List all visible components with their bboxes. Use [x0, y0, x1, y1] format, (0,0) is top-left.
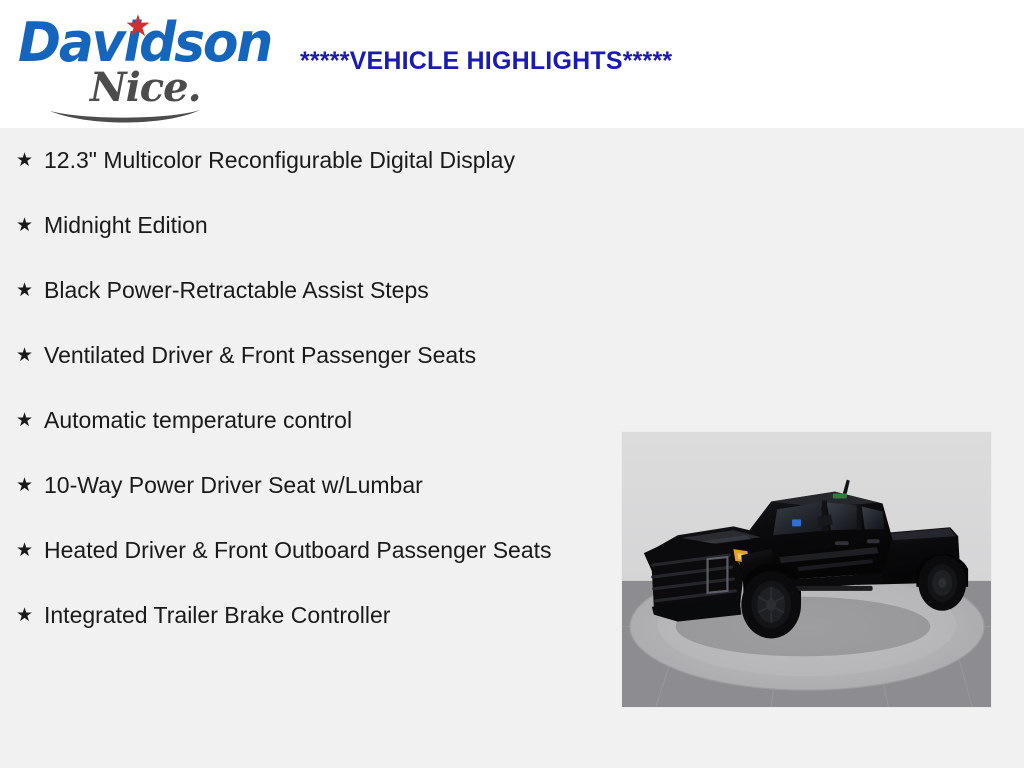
star-bullet-icon: ★	[16, 469, 44, 501]
star-bullet-icon: ★	[16, 274, 44, 306]
highlight-text: Heated Driver & Front Outboard Passenger…	[44, 534, 564, 567]
highlight-text: Integrated Trailer Brake Controller	[44, 599, 564, 632]
vehicle-highlights-list: ★ 12.3" Multicolor Reconfigurable Digita…	[0, 144, 600, 664]
list-item: ★ Ventilated Driver & Front Passenger Se…	[0, 339, 600, 372]
highlight-text: Automatic temperature control	[44, 404, 564, 437]
star-bullet-icon: ★	[16, 144, 44, 176]
highlight-text: Ventilated Driver & Front Passenger Seat…	[44, 339, 564, 372]
highlight-text: Black Power-Retractable Assist Steps	[44, 274, 564, 307]
highlights-section: ★ 12.3" Multicolor Reconfigurable Digita…	[0, 128, 1024, 768]
list-item: ★ Midnight Edition	[0, 209, 600, 242]
dealer-logo[interactable]: Davidson ★ Nice.	[12, 6, 274, 122]
star-bullet-icon: ★	[16, 599, 44, 631]
list-item: ★ 12.3" Multicolor Reconfigurable Digita…	[0, 144, 600, 177]
list-item: ★ Automatic temperature control	[0, 404, 600, 437]
star-bullet-icon: ★	[16, 404, 44, 436]
vehicle-photo[interactable]	[621, 431, 992, 708]
star-bullet-icon: ★	[16, 534, 44, 566]
list-item: ★ Integrated Trailer Brake Controller	[0, 599, 600, 632]
list-item: ★ Black Power-Retractable Assist Steps	[0, 274, 600, 307]
logo-star-icon: ★	[124, 13, 152, 41]
star-bullet-icon: ★	[16, 339, 44, 371]
highlight-text: 10-Way Power Driver Seat w/Lumbar	[44, 469, 564, 502]
page-title: *****VEHICLE HIGHLIGHTS*****	[300, 47, 1000, 76]
list-item: ★ 10-Way Power Driver Seat w/Lumbar	[0, 469, 600, 502]
page-header: Davidson ★ Nice. *****VEHICLE HIGHLIGHTS…	[0, 0, 1024, 128]
highlight-text: Midnight Edition	[44, 209, 564, 242]
logo-brand-script: Nice.	[90, 68, 201, 108]
list-item: ★ Heated Driver & Front Outboard Passeng…	[0, 534, 600, 567]
highlight-text: 12.3" Multicolor Reconfigurable Digital …	[44, 144, 564, 177]
vehicle-highlights-page: Davidson ★ Nice. *****VEHICLE HIGHLIGHTS…	[0, 0, 1024, 768]
star-bullet-icon: ★	[16, 209, 44, 241]
logo-swoosh-icon	[48, 107, 204, 127]
